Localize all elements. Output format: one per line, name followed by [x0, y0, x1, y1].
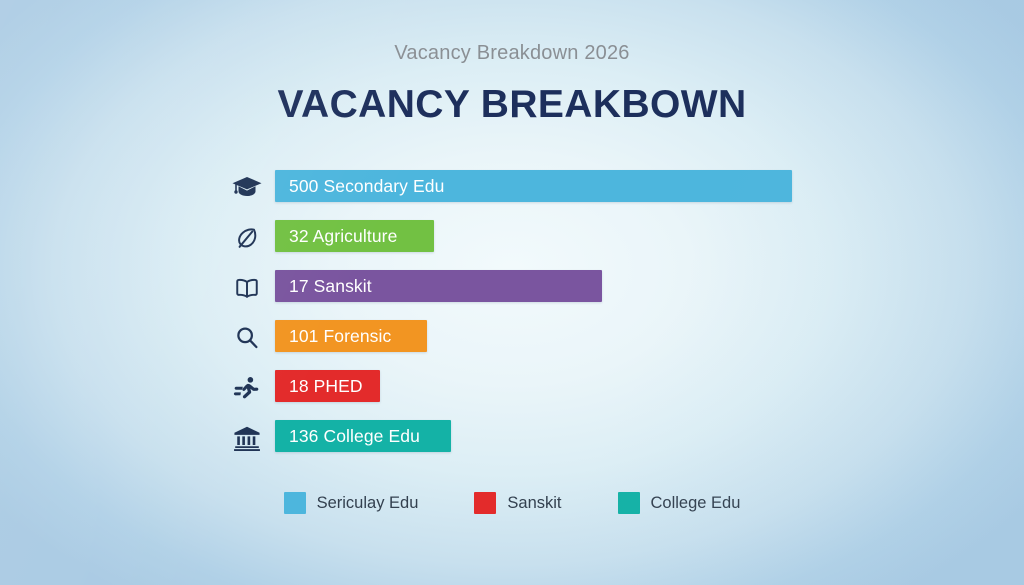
bar-label: 136 College Edu	[275, 426, 420, 447]
bar-fill[interactable]: 32 Agriculture	[275, 220, 434, 252]
bar-row: 101 Forensic	[0, 313, 1024, 363]
magnifier-icon	[228, 319, 266, 357]
bar-row: 18 PHED	[0, 363, 1024, 413]
leaf-icon	[228, 219, 266, 257]
bar-fill[interactable]: 17 Sanskit	[275, 270, 602, 302]
bar-fill[interactable]: 500 Secondary Edu	[275, 170, 792, 202]
bank-icon	[228, 419, 266, 457]
graduation-cap-icon	[228, 169, 266, 207]
bar-track: 136 College Edu	[275, 420, 451, 452]
bar-label: 101 Forensic	[275, 326, 391, 347]
bar-track: 500 Secondary Edu	[275, 170, 792, 202]
bar-fill[interactable]: 136 College Edu	[275, 420, 451, 452]
legend-label: Sericulay Edu	[317, 494, 419, 513]
bar-row: 500 Secondary Edu	[0, 163, 1024, 213]
bar-row: 136 College Edu	[0, 413, 1024, 463]
bar-fill[interactable]: 18 PHED	[275, 370, 380, 402]
legend-swatch	[618, 492, 640, 514]
legend-item[interactable]: Sanskit	[474, 492, 561, 514]
bar-label: 17 Sanskit	[275, 276, 372, 297]
bar-label: 32 Agriculture	[275, 226, 397, 247]
runner-icon	[228, 369, 266, 407]
legend-item[interactable]: Sericulay Edu	[284, 492, 419, 514]
bar-track: 101 Forensic	[275, 320, 427, 352]
bar-track: 32 Agriculture	[275, 220, 434, 252]
bar-row: 32 Agriculture	[0, 213, 1024, 263]
legend-label: Sanskit	[507, 494, 561, 513]
bar-track: 17 Sanskit	[275, 270, 602, 302]
book-icon	[228, 269, 266, 307]
bar-fill[interactable]: 101 Forensic	[275, 320, 427, 352]
chart-subtitle: Vacancy Breakdown 2026	[0, 42, 1024, 65]
page-title: VACANCY BREAKBOWN	[0, 83, 1024, 127]
legend-swatch	[284, 492, 306, 514]
infographic-canvas: Vacancy Breakdown 2026 VACANCY BREAKBOWN…	[0, 0, 1024, 585]
bar-label: 18 PHED	[275, 376, 363, 397]
chart-legend: Sericulay EduSanskitCollege Edu	[0, 492, 1024, 514]
legend-label: College Edu	[651, 494, 741, 513]
legend-item[interactable]: College Edu	[618, 492, 741, 514]
bar-track: 18 PHED	[275, 370, 380, 402]
bar-row: 17 Sanskit	[0, 263, 1024, 313]
bar-label: 500 Secondary Edu	[275, 176, 444, 197]
bar-chart: 500 Secondary Edu32 Agriculture17 Sanski…	[0, 163, 1024, 463]
legend-swatch	[474, 492, 496, 514]
